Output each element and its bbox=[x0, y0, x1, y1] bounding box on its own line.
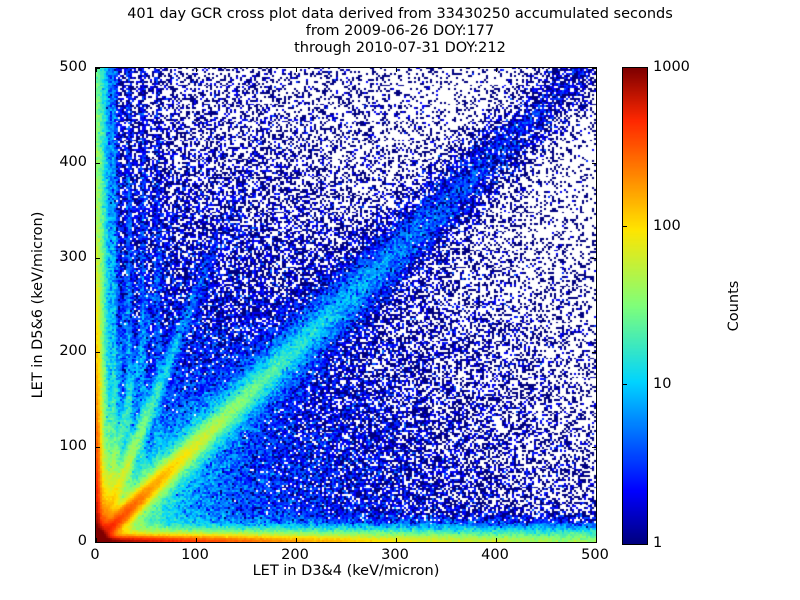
x-axis-label: LET in D3&4 (keV/micron) bbox=[95, 563, 597, 579]
x-tick-label-500: 500 bbox=[581, 547, 609, 563]
y-tick-400 bbox=[96, 163, 100, 164]
x-tick-300 bbox=[396, 538, 397, 542]
y-tick-right-500 bbox=[592, 68, 596, 69]
heatmap-canvas bbox=[96, 68, 596, 542]
x-tick-100 bbox=[196, 538, 197, 542]
x-tick-top-400 bbox=[496, 68, 497, 72]
plot-area bbox=[95, 67, 597, 543]
colorbar-gradient bbox=[623, 68, 647, 544]
x-tick-top-300 bbox=[396, 68, 397, 72]
colorbar-tick-label-10: 10 bbox=[653, 376, 671, 392]
y-tick-300 bbox=[96, 258, 100, 259]
x-tick-top-500 bbox=[596, 68, 597, 72]
colorbar-tick-100 bbox=[622, 226, 627, 227]
title-line-2: from 2009-06-26 DOY:177 bbox=[0, 23, 800, 40]
figure-canvas: 401 day GCR cross plot data derived from… bbox=[0, 0, 800, 600]
colorbar-tick-10 bbox=[622, 384, 627, 385]
x-tick-top-200 bbox=[296, 68, 297, 72]
y-tick-right-0 bbox=[592, 542, 596, 543]
x-tick-label-400: 400 bbox=[481, 547, 509, 563]
colorbar-tick-label-1: 1 bbox=[653, 535, 662, 551]
x-tick-top-100 bbox=[196, 68, 197, 72]
x-tick-label-200: 200 bbox=[281, 547, 309, 563]
title-line-1: 401 day GCR cross plot data derived from… bbox=[0, 6, 800, 23]
plot-title: 401 day GCR cross plot data derived from… bbox=[0, 6, 800, 57]
x-tick-500 bbox=[596, 538, 597, 542]
title-line-3: through 2010-07-31 DOY:212 bbox=[0, 40, 800, 57]
y-axis-label: LET in D5&6 (keV/micron) bbox=[30, 67, 46, 543]
y-tick-right-100 bbox=[592, 447, 596, 448]
x-tick-label-300: 300 bbox=[381, 547, 409, 563]
x-tick-200 bbox=[296, 538, 297, 542]
colorbar-label: Counts bbox=[726, 67, 742, 545]
y-tick-right-200 bbox=[592, 352, 596, 353]
colorbar bbox=[622, 67, 648, 545]
colorbar-tick-label-1000: 1000 bbox=[653, 59, 690, 75]
y-tick-0 bbox=[96, 542, 100, 543]
y-tick-500 bbox=[96, 68, 100, 69]
x-tick-label-100: 100 bbox=[181, 547, 209, 563]
x-tick-400 bbox=[496, 538, 497, 542]
y-tick-200 bbox=[96, 352, 100, 353]
x-tick-label-0: 0 bbox=[90, 547, 99, 563]
y-tick-right-300 bbox=[592, 258, 596, 259]
colorbar-tick-label-100: 100 bbox=[653, 218, 681, 234]
y-tick-100 bbox=[96, 447, 100, 448]
y-tick-right-400 bbox=[592, 163, 596, 164]
